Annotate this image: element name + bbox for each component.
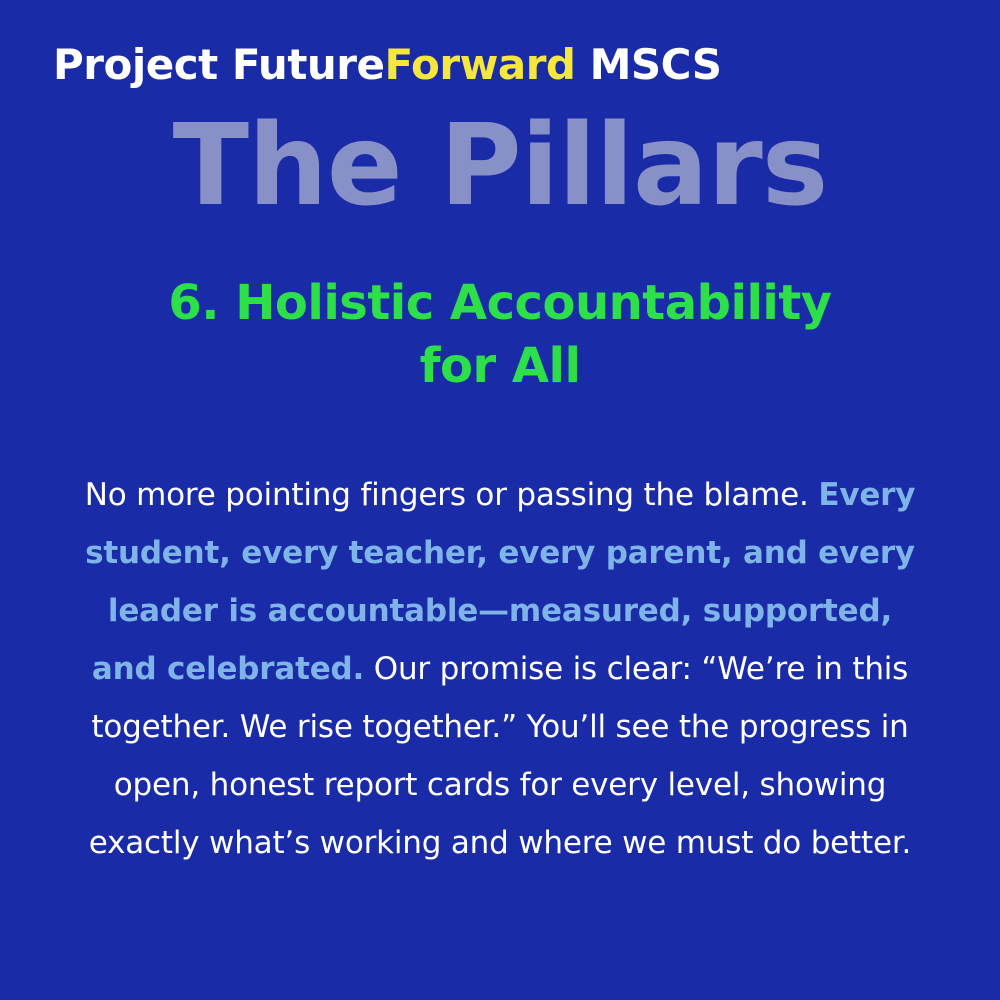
brand-prefix: Project Future (53, 40, 385, 89)
body-segment-intro: No more pointing fingers or passing the … (85, 477, 819, 513)
series-title: The Pillars (0, 108, 1000, 226)
slide-canvas: Project FutureForward MSCS The Pillars 6… (0, 0, 1000, 1000)
brand-suffix: MSCS (576, 40, 722, 89)
brand-eyebrow: Project FutureForward MSCS (53, 44, 722, 86)
body-paragraph: No more pointing fingers or passing the … (72, 466, 928, 872)
pillar-heading: 6. Holistic Accountability for All (60, 272, 940, 399)
pillar-heading-line-1: 6. Holistic Accountability (168, 275, 831, 331)
pillar-heading-line-2: for All (420, 338, 581, 394)
brand-accent-word: Forward (385, 40, 576, 89)
